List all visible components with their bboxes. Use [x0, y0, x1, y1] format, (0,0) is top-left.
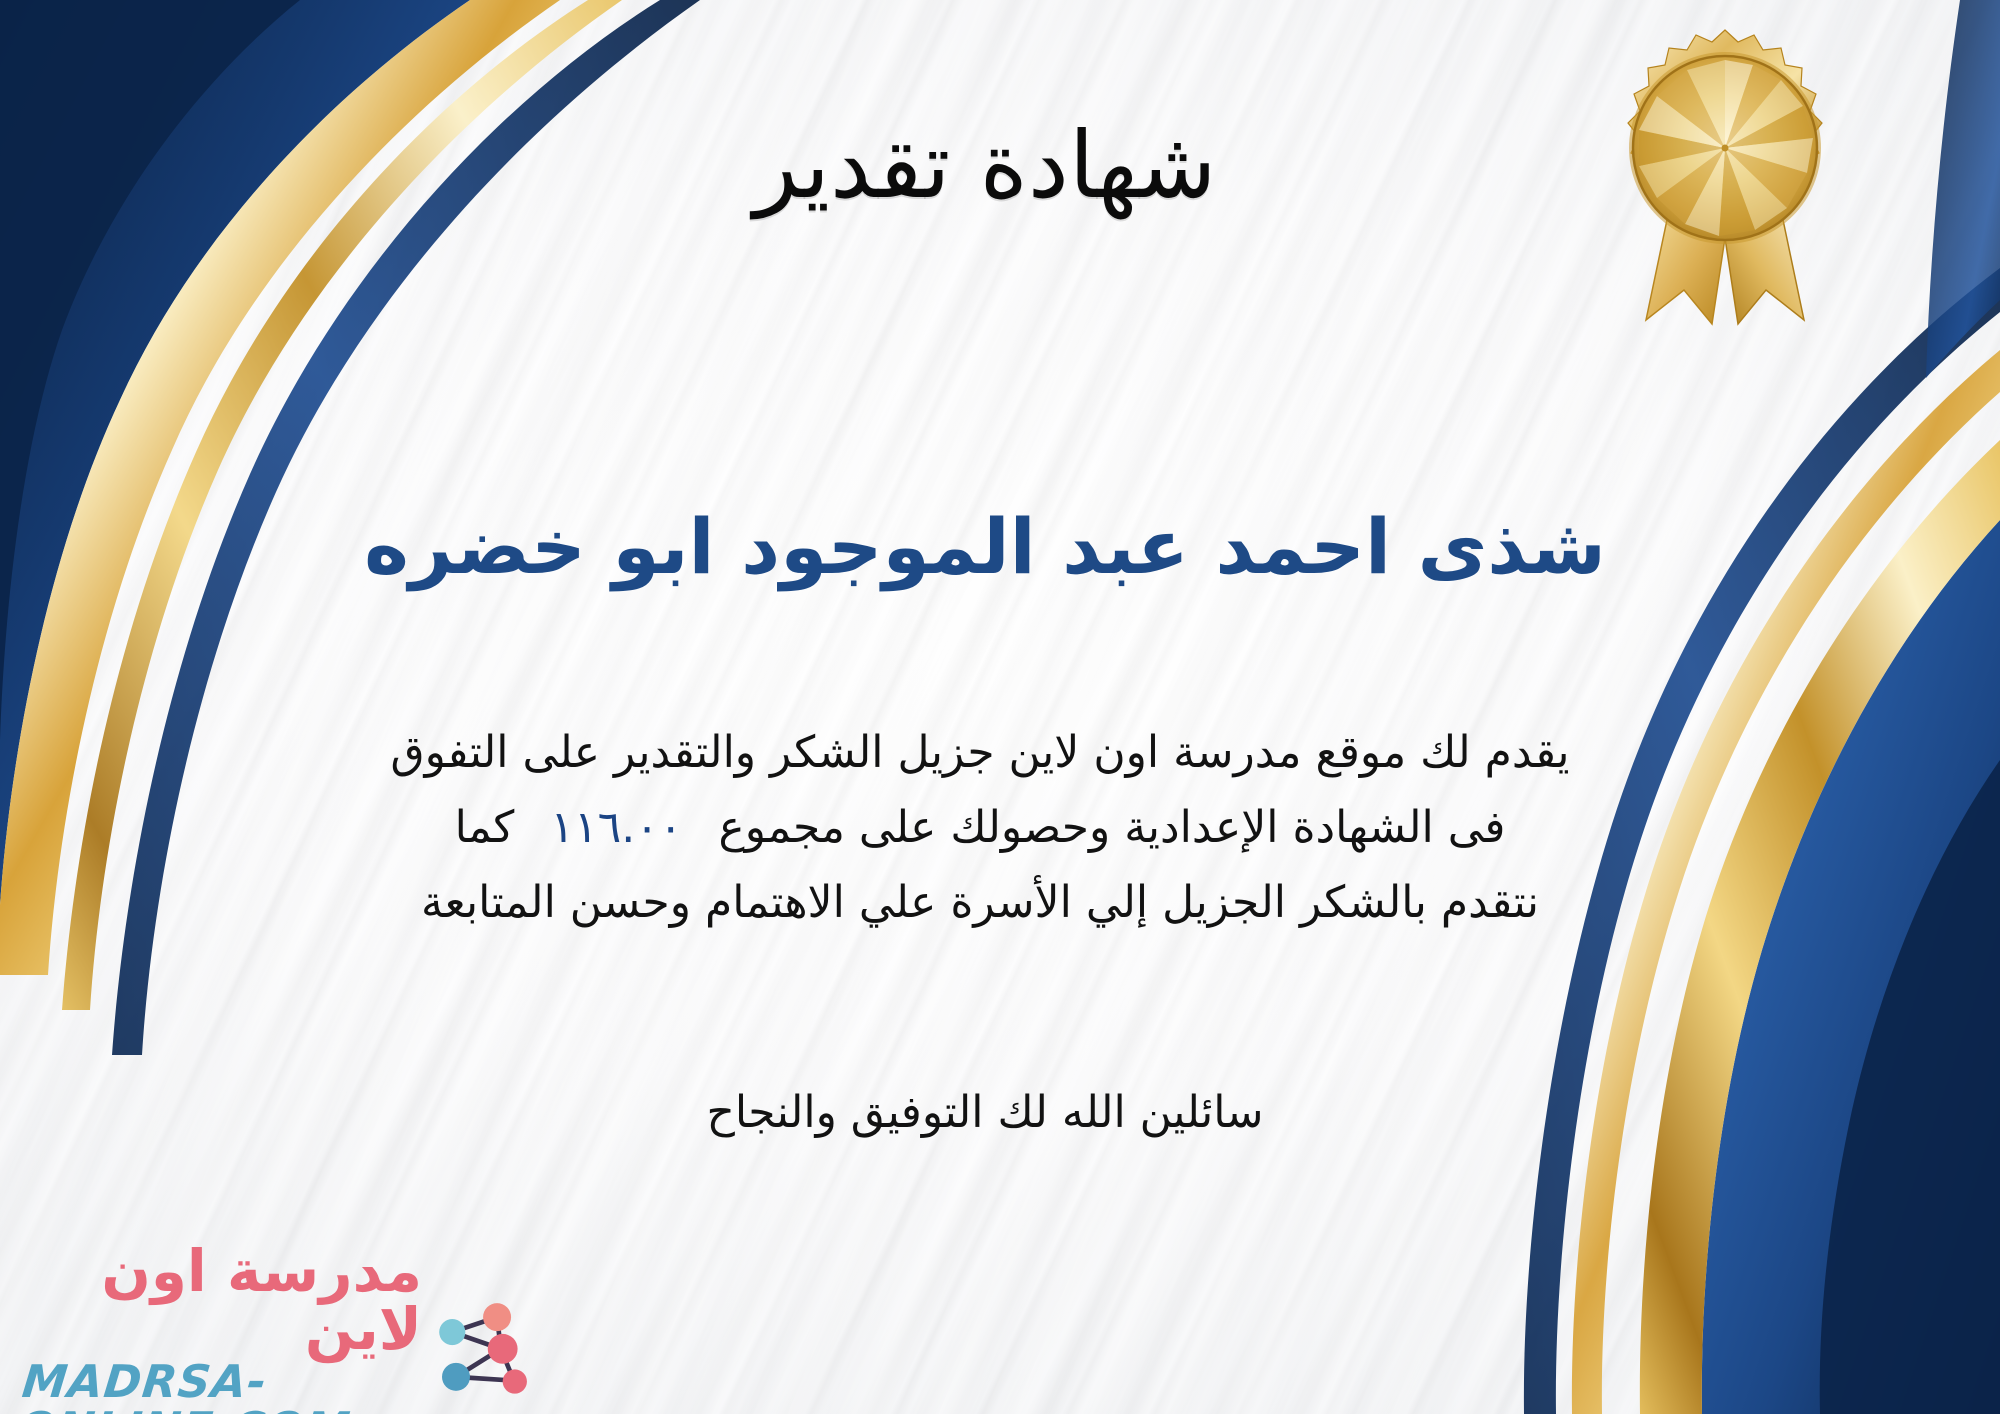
brand-website: MADRSA-ONLINE.COM — [15, 1358, 427, 1414]
student-name: شذى احمد عبد الموجود ابو خضره — [120, 505, 1850, 589]
certificate-body: يقدم لك موقع مدرسة اون لاين جزيل الشكر و… — [50, 716, 1910, 940]
body-line-3: نتقدم بالشكر الجزيل إلي الأسرة علي الاهت… — [50, 866, 1910, 941]
grade-total-value: ١١٦.٠٠ — [514, 791, 718, 866]
node-coral-2 — [503, 1370, 527, 1394]
node-light-teal — [439, 1319, 465, 1345]
body-line-2: فى الشهادة الإعدادية وحصولك على مجموع١١٦… — [50, 791, 1910, 866]
network-nodes-icon — [428, 1291, 540, 1403]
node-coral — [488, 1334, 518, 1364]
node-salmon — [483, 1303, 511, 1331]
body-line-2-prefix: فى الشهادة الإعدادية وحصولك على مجموع — [719, 802, 1506, 853]
body-line-2-suffix: كما — [455, 802, 515, 853]
brand-logo[interactable]: مدرسة اون لاين MADRSA-ONLINE.COM — [20, 1242, 540, 1392]
certificate-content: شهادة تقدير شذى احمد عبد الموجود ابو خضر… — [120, 0, 1850, 1414]
certificate-title: شهادة تقدير — [120, 118, 1850, 215]
body-line-1: يقدم لك موقع مدرسة اون لاين جزيل الشكر و… — [50, 716, 1910, 791]
brand-text: مدرسة اون لاين MADRSA-ONLINE.COM — [20, 1242, 422, 1414]
node-teal — [442, 1363, 470, 1391]
brand-arabic-name: مدرسة اون لاين — [20, 1242, 422, 1358]
closing-wish: سائلين الله لك التوفيق والنجاح — [120, 1078, 1850, 1148]
certificate-page: شهادة تقدير شذى احمد عبد الموجود ابو خضر… — [0, 0, 2000, 1414]
brand-logo-row: مدرسة اون لاين MADRSA-ONLINE.COM — [20, 1242, 540, 1414]
